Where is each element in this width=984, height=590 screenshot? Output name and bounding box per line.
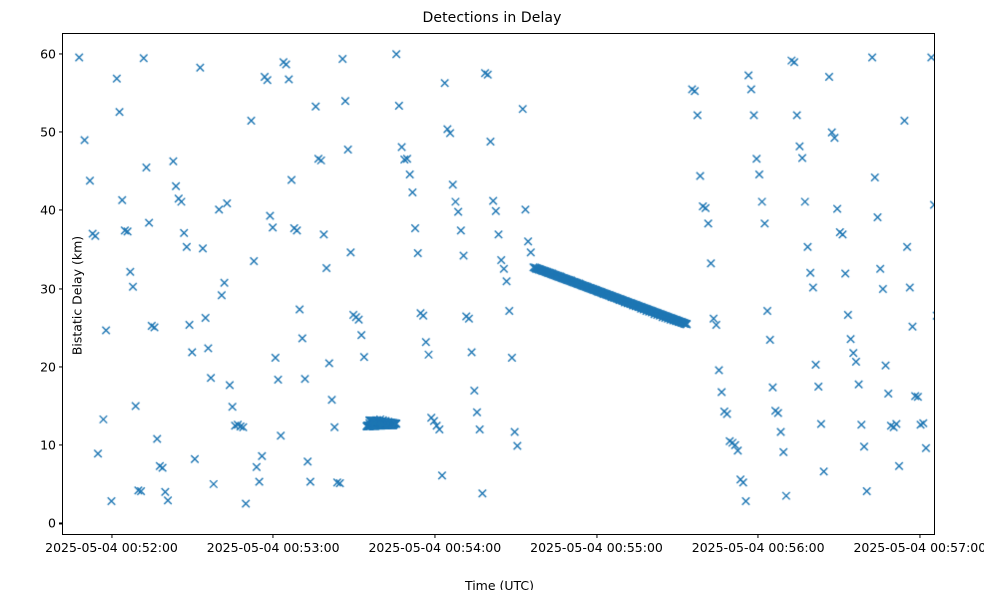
x-tick-mark bbox=[273, 534, 274, 538]
y-tick-mark bbox=[59, 53, 63, 54]
plot-axes: Bistatic Delay (km) Time (UTC) 010203040… bbox=[62, 33, 935, 535]
x-tick-mark bbox=[111, 534, 112, 538]
y-tick-label: 50 bbox=[40, 124, 56, 139]
y-tick-label: 30 bbox=[40, 281, 56, 296]
x-tick-label: 2025-05-04 00:57:00 bbox=[853, 540, 984, 555]
y-tick-mark bbox=[59, 445, 63, 446]
y-tick-mark bbox=[59, 210, 63, 211]
x-tick-mark bbox=[919, 534, 920, 538]
x-tick-label: 2025-05-04 00:56:00 bbox=[692, 540, 825, 555]
x-tick-mark bbox=[434, 534, 435, 538]
y-tick-label: 0 bbox=[48, 516, 56, 531]
y-tick-mark bbox=[59, 131, 63, 132]
y-tick-mark bbox=[59, 523, 63, 524]
scatter-plot-canvas bbox=[63, 34, 934, 534]
y-tick-label: 10 bbox=[40, 438, 56, 453]
y-tick-mark bbox=[59, 366, 63, 367]
y-tick-label: 20 bbox=[40, 359, 56, 374]
y-tick-mark bbox=[59, 288, 63, 289]
x-tick-label: 2025-05-04 00:55:00 bbox=[530, 540, 663, 555]
x-tick-label: 2025-05-04 00:54:00 bbox=[368, 540, 501, 555]
x-tick-label: 2025-05-04 00:52:00 bbox=[45, 540, 178, 555]
x-axis-label: Time (UTC) bbox=[63, 578, 936, 590]
x-tick-mark bbox=[758, 534, 759, 538]
matplotlib-figure: Detections in Delay Bistatic Delay (km) … bbox=[0, 0, 984, 590]
x-tick-mark bbox=[596, 534, 597, 538]
y-tick-label: 60 bbox=[40, 46, 56, 61]
chart-title: Detections in Delay bbox=[0, 10, 984, 26]
y-tick-label: 40 bbox=[40, 203, 56, 218]
x-tick-label: 2025-05-04 00:53:00 bbox=[207, 540, 340, 555]
y-axis-label: Bistatic Delay (km) bbox=[70, 76, 85, 516]
